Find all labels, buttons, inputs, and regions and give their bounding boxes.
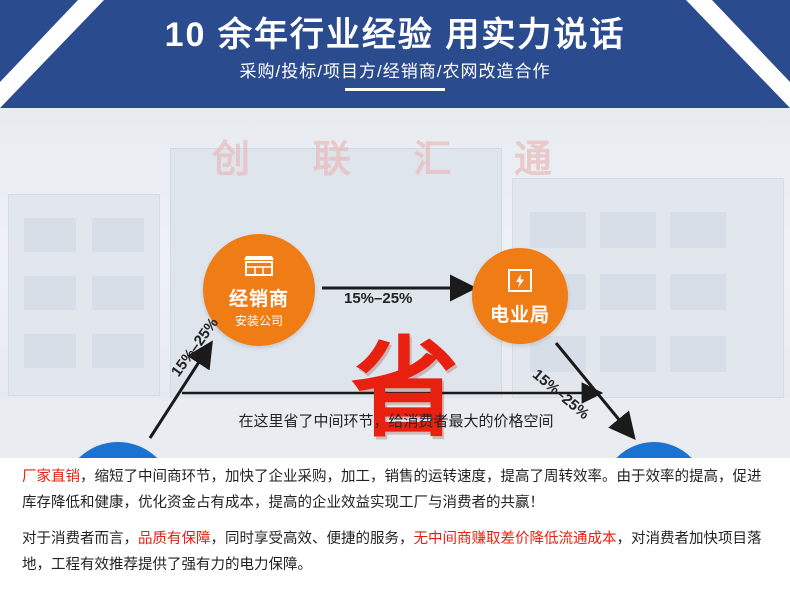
paragraph-2-highlight-2: 无中间商赚取差价降低流通成本 [414,531,617,547]
header-title: 10 余年行业经验 用实力说话 [0,15,790,55]
paragraph-2-mid: ，同时享受高效、便捷的服务， [211,531,414,547]
node-power-bureau[interactable]: 电业局 [472,248,568,344]
edge-label-top: 15%–25% [344,290,412,307]
description-block: 厂家直销，缩短了中间商环节，加快了企业采购，加工，销售的运转速度，提高了周转效率… [0,458,790,602]
paragraph-1-highlight: 厂家直销 [22,469,80,485]
node-dealer-title: 经销商 [229,284,289,311]
bottom-caption: 在这里省了中间环节，给消费者最大的价格空间 [196,410,596,431]
paragraph-1-rest: ，缩短了中间商环节，加快了企业采购，加工，销售的运转速度，提高了周转效率。由于效… [22,469,762,511]
shop-icon [242,252,276,282]
paragraph-2-highlight-1: 品质有保障 [138,531,211,547]
diagram-area: 创 联 汇 通 [0,108,790,458]
promo-banner: 10 余年行业经验 用实力说话 采购/投标/项目方/经销商/农网改造合作 创 联… [0,0,790,602]
node-dealer[interactable]: 经销商 安装公司 [203,234,315,346]
header-bar: 10 余年行业经验 用实力说话 采购/投标/项目方/经销商/农网改造合作 [0,0,790,108]
node-dealer-subtitle: 安装公司 [235,312,283,329]
header-subtitle: 采购/投标/项目方/经销商/农网改造合作 [0,60,790,84]
paragraph-2-lead: 对于消费者而言， [22,531,138,547]
factory-icon [505,266,535,298]
header-underline [345,88,445,91]
node-power-title: 电业局 [490,300,550,327]
paragraph-2: 对于消费者而言，品质有保障，同时享受高效、便捷的服务，无中间商赚取差价降低流通成… [22,526,768,578]
paragraph-1: 厂家直销，缩短了中间商环节，加快了企业采购，加工，销售的运转速度，提高了周转效率… [22,464,768,516]
